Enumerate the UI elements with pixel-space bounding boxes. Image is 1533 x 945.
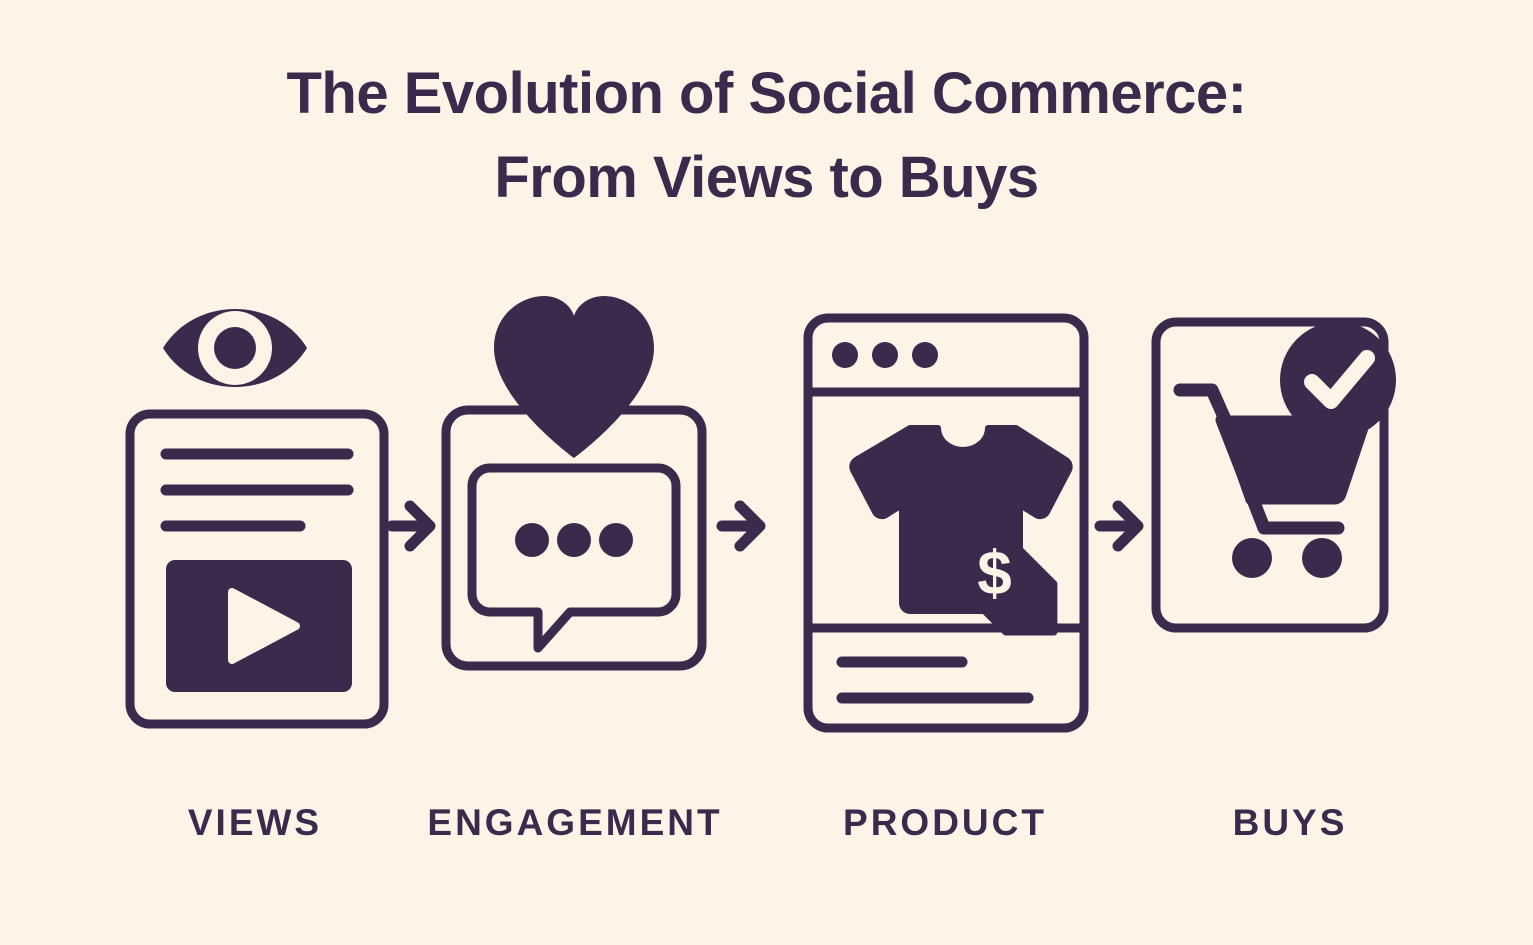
flow-diagram: $: [0, 0, 1533, 945]
check-badge-icon: [1280, 322, 1396, 438]
typing-dots-icon: [515, 523, 633, 557]
article-text-lines: [166, 454, 348, 526]
dollar-sign-icon: $: [977, 540, 1011, 609]
heart-icon: [494, 296, 654, 458]
speech-bubble-icon: [472, 468, 676, 648]
stage-icon-engagement: [438, 288, 718, 688]
window-dots-icon: [832, 342, 938, 368]
stage-icon-buys: [1148, 292, 1438, 652]
stage-icon-views: [120, 292, 410, 732]
stage-label-product: PRODUCT: [790, 802, 1100, 844]
arrow-right-icon-3: [1100, 498, 1150, 554]
stage-label-buys: BUYS: [1140, 802, 1440, 844]
product-text-lines: [842, 662, 1028, 698]
infographic-canvas: The Evolution of Social Commerce: From V…: [0, 0, 1533, 945]
stage-label-engagement: ENGAGEMENT: [400, 802, 750, 844]
arrow-right-icon-1: [392, 498, 442, 554]
stage-icon-product: $: [800, 310, 1110, 740]
stage-label-views: VIEWS: [110, 802, 400, 844]
eye-icon: [163, 309, 307, 387]
arrow-right-icon-2: [722, 498, 772, 554]
